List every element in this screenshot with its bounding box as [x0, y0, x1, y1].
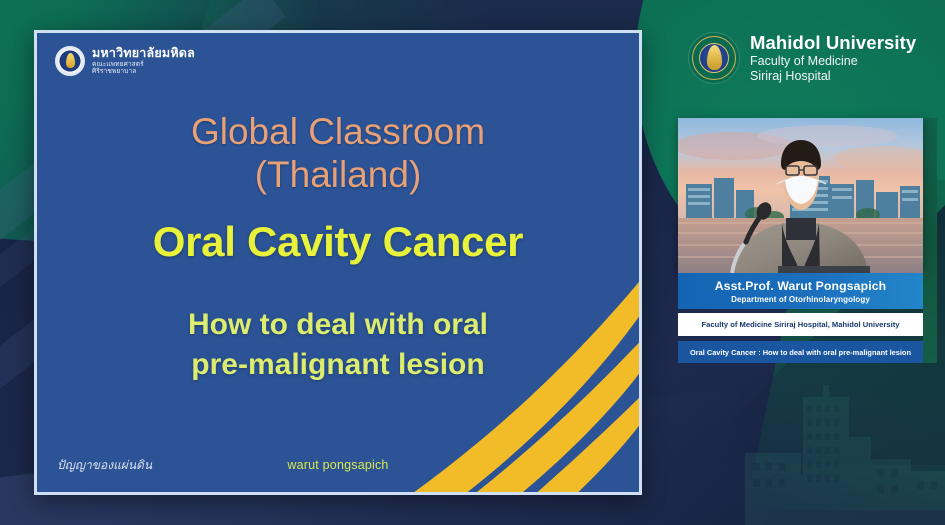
slide-logo-hospital-th: ศิริราชพยาบาล [92, 68, 195, 75]
crest-core [699, 43, 729, 73]
seal-flame-icon [66, 53, 75, 68]
building-silhouettes-icon [745, 375, 945, 525]
slide-title-primary: Global Classroom (Thailand) [37, 111, 639, 197]
slide-logo: มหาวิทยาลัยมหิดล คณะแพทยศาสตร์ ศิริราชพย… [55, 46, 195, 76]
presentation-screen: มหาวิทยาลัยมหิดล คณะแพทยศาสตร์ ศิริราชพย… [0, 0, 945, 525]
panel-hospital-name: Siriraj Hospital [750, 69, 916, 84]
presentation-slide[interactable]: มหาวิทยาลัยมหิดล คณะแพทยศาสตร์ ศิริราชพย… [34, 30, 642, 495]
slide-title-main: Oral Cavity Cancer [37, 218, 639, 266]
panel-header-text: Mahidol University Faculty of Medicine S… [750, 32, 916, 83]
panel-university-name: Mahidol University [750, 32, 916, 54]
slide-logo-text: มหาวิทยาลัยมหิดล คณะแพทยศาสตร์ ศิริราชพย… [92, 47, 195, 74]
slide-canvas: มหาวิทยาลัยมหิดล คณะแพทยศาสตร์ ศิริราชพย… [37, 33, 639, 492]
panel-side-edge [923, 118, 937, 363]
topic-bar: Oral Cavity Cancer : How to deal with or… [678, 341, 923, 363]
slide-logo-faculty-th: คณะแพทยศาสตร์ [92, 61, 195, 68]
slide-title-primary-line2: (Thailand) [37, 154, 639, 197]
crest-flame-icon [707, 45, 722, 70]
slide-author: warut pongsapich [37, 458, 639, 472]
mahidol-seal-icon [55, 46, 85, 76]
speaker-name: Asst.Prof. Warut Pongsapich [715, 279, 887, 293]
mahidol-crest-icon [688, 32, 740, 84]
video-background-scene [678, 118, 923, 273]
panel-header: Mahidol University Faculty of Medicine S… [688, 32, 916, 84]
speaker-name-bar: Asst.Prof. Warut Pongsapich Department o… [678, 273, 923, 309]
slide-subtitle: How to deal with oral pre-malignant lesi… [37, 305, 639, 384]
slide-subtitle-line1: How to deal with oral [37, 305, 639, 345]
affiliation-bar: Faculty of Medicine Siriraj Hospital, Ma… [678, 313, 923, 336]
panel-faculty-name: Faculty of Medicine [750, 54, 916, 69]
presenter-video-feed[interactable] [678, 118, 923, 273]
speaker-department: Department of Otorhinolaryngology [731, 295, 870, 304]
slide-logo-university-th: มหาวิทยาลัยมหิดล [92, 47, 195, 60]
slide-title-primary-line1: Global Classroom [37, 111, 639, 154]
slide-subtitle-line2: pre-malignant lesion [37, 345, 639, 385]
